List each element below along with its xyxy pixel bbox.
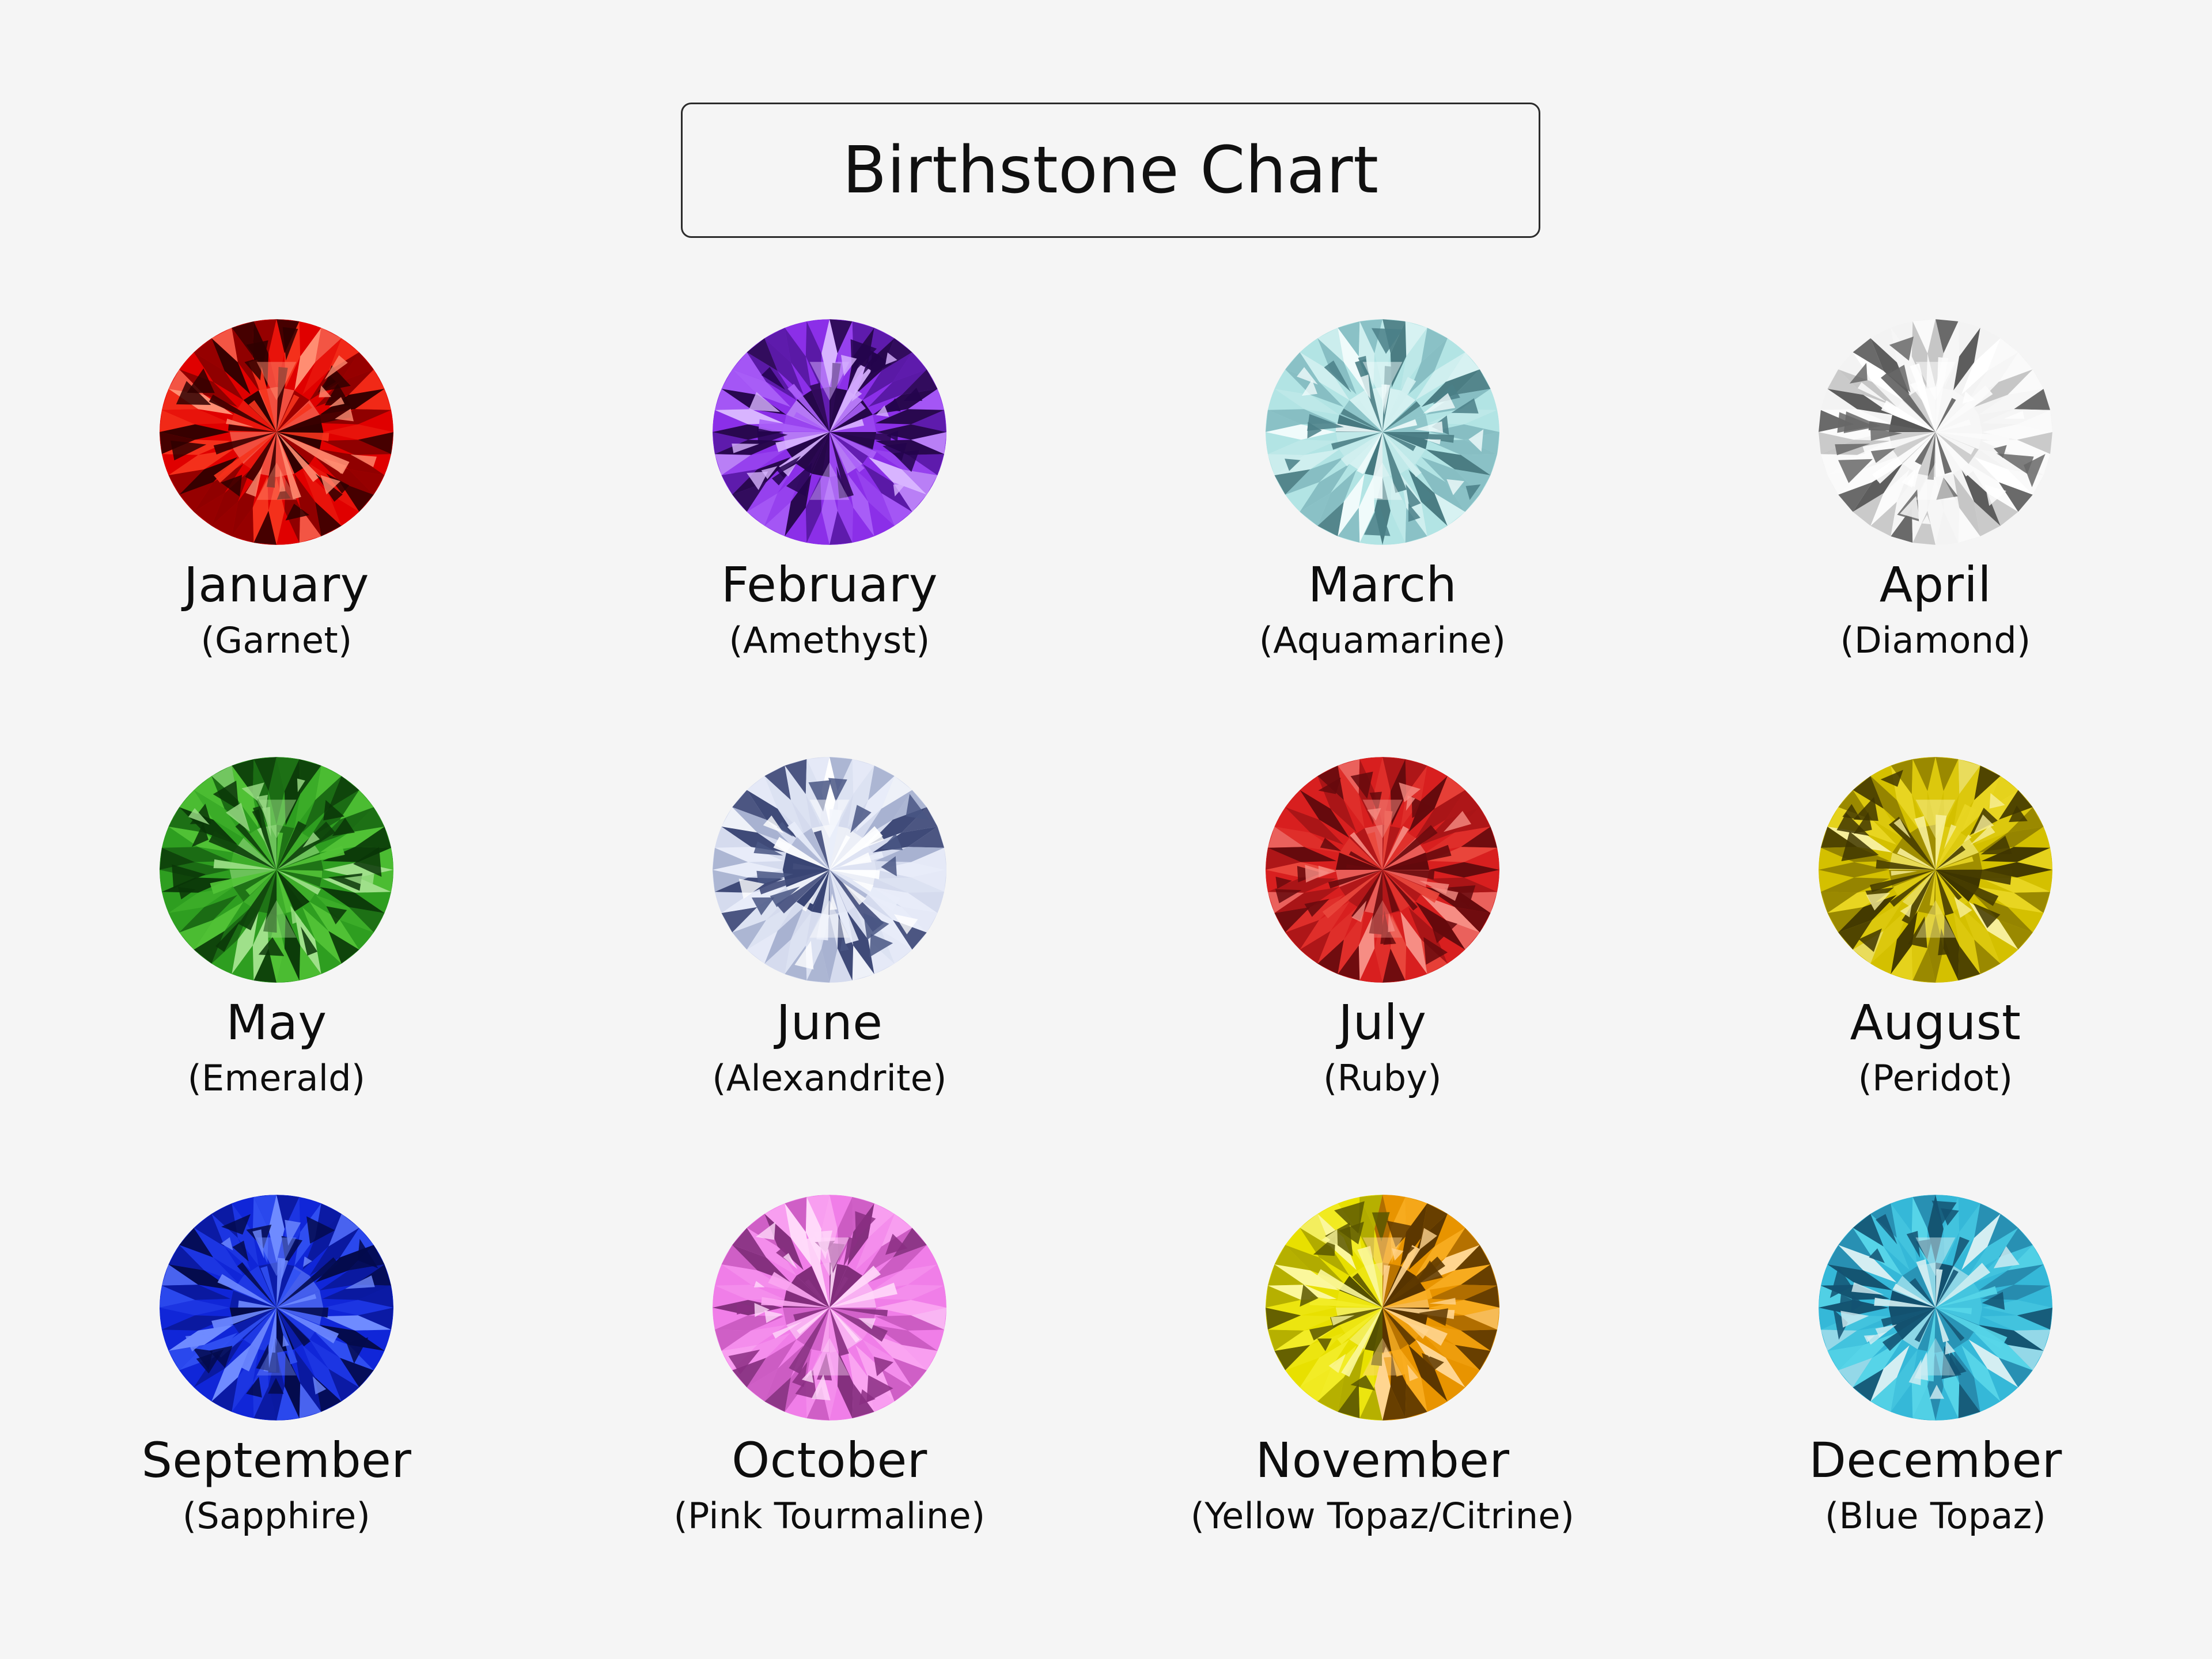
birthstone-cell-september: September(Sapphire): [0, 1190, 553, 1627]
gem-icon-yellow-topaz-citrine: [1264, 1190, 1501, 1426]
gem-icon-diamond: [1817, 314, 2054, 550]
stone-label: (Blue Topaz): [1809, 1498, 2062, 1534]
stone-label: (Pink Tourmaline): [674, 1498, 986, 1534]
gem-icon-amethyst: [711, 314, 948, 550]
birthstone-labels: December(Blue Topaz): [1809, 1436, 2062, 1534]
stone-label: (Aquamarine): [1259, 623, 1506, 658]
birthstone-labels: February(Amethyst): [721, 560, 938, 658]
page-title: Birthstone Chart: [843, 138, 1379, 203]
gem-icon-ruby: [1264, 752, 1501, 988]
stone-label: (Diamond): [1840, 623, 2031, 658]
stone-label: (Yellow Topaz/Citrine): [1191, 1498, 1575, 1534]
birthstone-cell-may: May(Emerald): [0, 752, 553, 1190]
birthstone-labels: April(Diamond): [1840, 560, 2031, 658]
gem-icon-emerald: [158, 752, 395, 988]
stone-label: (Garnet): [184, 623, 369, 658]
birthstone-labels: November(Yellow Topaz/Citrine): [1191, 1436, 1575, 1534]
gem-icon-alexandrite: [711, 752, 948, 988]
stone-label: (Alexandrite): [712, 1060, 946, 1096]
birthstone-cell-february: February(Amethyst): [553, 314, 1106, 752]
month-label: December: [1809, 1436, 2062, 1484]
birthstone-cell-june: June(Alexandrite): [553, 752, 1106, 1190]
month-label: October: [674, 1436, 986, 1484]
birthstone-cell-december: December(Blue Topaz): [1659, 1190, 2212, 1627]
birthstone-labels: July(Ruby): [1323, 998, 1442, 1096]
month-label: January: [184, 560, 369, 609]
birthstone-cell-march: March(Aquamarine): [1106, 314, 1659, 752]
stone-label: (Amethyst): [721, 623, 938, 658]
birthstone-labels: May(Emerald): [188, 998, 366, 1096]
month-label: August: [1850, 998, 2021, 1047]
month-label: May: [188, 998, 366, 1047]
gem-icon-sapphire: [158, 1190, 395, 1426]
birthstone-labels: October(Pink Tourmaline): [674, 1436, 986, 1534]
month-label: November: [1191, 1436, 1575, 1484]
title-box: Birthstone Chart: [681, 103, 1540, 238]
month-label: July: [1323, 998, 1442, 1047]
birthstone-cell-january: January(Garnet): [0, 314, 553, 752]
stone-label: (Emerald): [188, 1060, 366, 1096]
gem-icon-aquamarine: [1264, 314, 1501, 550]
birthstone-labels: August(Peridot): [1850, 998, 2021, 1096]
birthstone-cell-october: October(Pink Tourmaline): [553, 1190, 1106, 1627]
month-label: February: [721, 560, 938, 609]
gem-icon-garnet: [158, 314, 395, 550]
gem-icon-peridot: [1817, 752, 2054, 988]
stone-label: (Peridot): [1850, 1060, 2021, 1096]
birthstone-labels: June(Alexandrite): [712, 998, 946, 1096]
birthstone-labels: January(Garnet): [184, 560, 369, 658]
stone-label: (Ruby): [1323, 1060, 1442, 1096]
birthstone-cell-april: April(Diamond): [1659, 314, 2212, 752]
birthstone-grid: January(Garnet)February(Amethyst)March(A…: [0, 314, 2212, 1627]
birthstone-labels: September(Sapphire): [142, 1436, 412, 1534]
birthstone-chart-page: Birthstone Chart January(Garnet)February…: [0, 0, 2212, 1659]
gem-icon-pink-tourmaline: [711, 1190, 948, 1426]
birthstone-cell-july: July(Ruby): [1106, 752, 1659, 1190]
birthstone-cell-august: August(Peridot): [1659, 752, 2212, 1190]
gem-icon-blue-topaz: [1817, 1190, 2054, 1426]
month-label: April: [1840, 560, 2031, 609]
stone-label: (Sapphire): [142, 1498, 412, 1534]
birthstone-cell-november: November(Yellow Topaz/Citrine): [1106, 1190, 1659, 1627]
month-label: March: [1259, 560, 1506, 609]
month-label: September: [142, 1436, 412, 1484]
month-label: June: [712, 998, 946, 1047]
birthstone-labels: March(Aquamarine): [1259, 560, 1506, 658]
